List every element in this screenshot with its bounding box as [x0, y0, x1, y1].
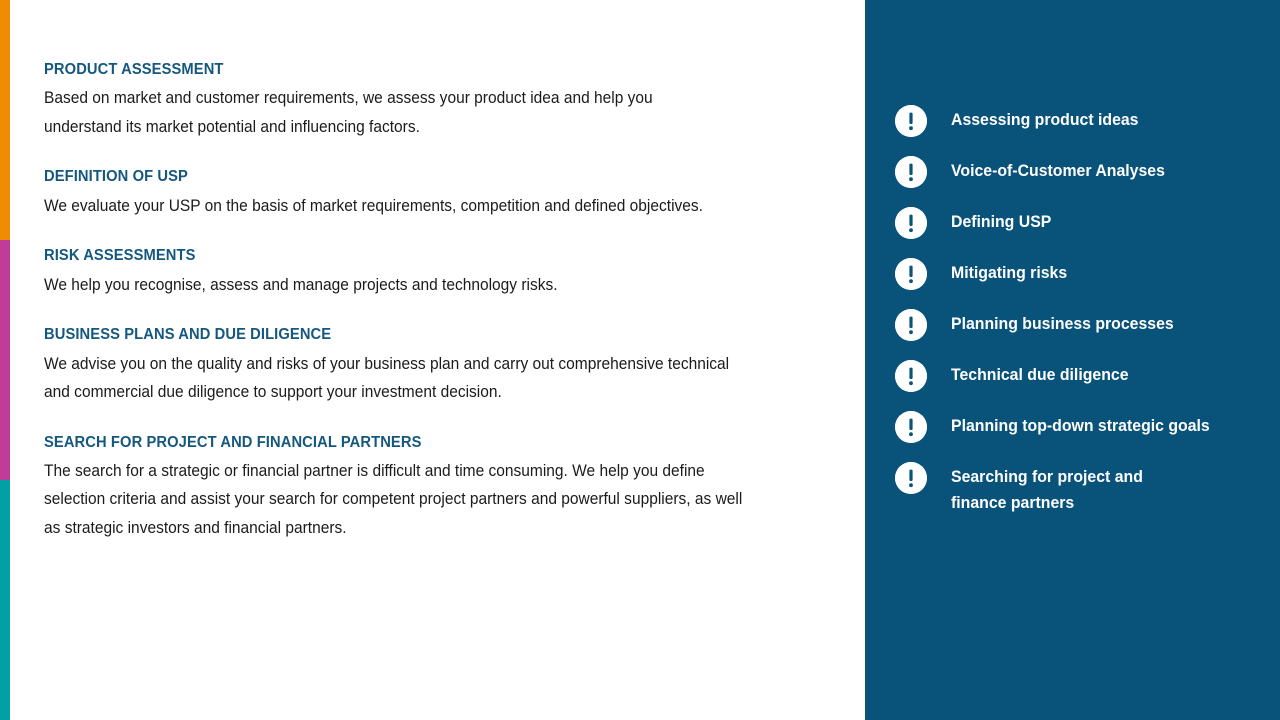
section-body: The search for a strategic or financial … [44, 457, 758, 543]
list-item-label: Planning business processes [951, 302, 1174, 337]
list-item-label: Searching for project and finance partne… [951, 455, 1143, 516]
section-body: We help you recognise, assess and manage… [44, 271, 758, 300]
accent-bar-magenta [0, 240, 10, 480]
accent-bar-orange [0, 0, 10, 240]
list-item-label: Planning top-down strategic goals [951, 404, 1210, 439]
list-item: Mitigating risks [895, 251, 1270, 302]
section-heading: BUSINESS PLANS AND DUE DILIGENCE [44, 325, 766, 344]
list-item: Searching for project and finance partne… [895, 455, 1270, 506]
side-panel-list: Assessing product ideas Voice-of-Custome… [895, 98, 1270, 506]
list-item: Technical due diligence [895, 353, 1270, 404]
section-body: Based on market and customer requirement… [44, 84, 730, 141]
exclamation-circle-icon [895, 105, 927, 137]
section-definition-of-usp: DEFINITION OF USP We evaluate your USP o… [44, 167, 804, 220]
content-column: PRODUCT ASSESSMENT Based on market and c… [44, 60, 804, 542]
list-item: Planning business processes [895, 302, 1270, 353]
section-heading: RISK ASSESSMENTS [44, 246, 766, 265]
section-body: We evaluate your USP on the basis of mar… [44, 192, 758, 221]
exclamation-circle-icon [895, 462, 927, 494]
section-heading: DEFINITION OF USP [44, 167, 766, 186]
exclamation-circle-icon [895, 156, 927, 188]
exclamation-circle-icon [895, 309, 927, 341]
side-panel: Assessing product ideas Voice-of-Custome… [865, 0, 1280, 720]
section-heading: SEARCH FOR PROJECT AND FINANCIAL PARTNER… [44, 433, 766, 452]
section-product-assessment: PRODUCT ASSESSMENT Based on market and c… [44, 60, 804, 141]
list-item-label: Voice-of-Customer Analyses [951, 149, 1165, 184]
section-business-plans-and-due-diligence: BUSINESS PLANS AND DUE DILIGENCE We advi… [44, 325, 804, 406]
exclamation-circle-icon [895, 411, 927, 443]
slide-canvas: PRODUCT ASSESSMENT Based on market and c… [0, 0, 1280, 720]
section-risk-assessments: RISK ASSESSMENTS We help you recognise, … [44, 246, 804, 299]
exclamation-circle-icon [895, 360, 927, 392]
section-heading: PRODUCT ASSESSMENT [44, 60, 766, 79]
list-item: Planning top-down strategic goals [895, 404, 1270, 455]
list-item: Defining USP [895, 200, 1270, 251]
exclamation-circle-icon [895, 207, 927, 239]
exclamation-circle-icon [895, 258, 927, 290]
accent-bar-teal [0, 480, 10, 720]
list-item-label: Mitigating risks [951, 251, 1067, 286]
list-item: Assessing product ideas [895, 98, 1270, 149]
section-body: We advise you on the quality and risks o… [44, 350, 758, 407]
section-search-for-project-and-financial-partners: SEARCH FOR PROJECT AND FINANCIAL PARTNER… [44, 433, 804, 543]
list-item-label: Assessing product ideas [951, 98, 1139, 133]
list-item: Voice-of-Customer Analyses [895, 149, 1270, 200]
list-item-label: Defining USP [951, 200, 1051, 235]
list-item-label: Technical due diligence [951, 353, 1129, 388]
